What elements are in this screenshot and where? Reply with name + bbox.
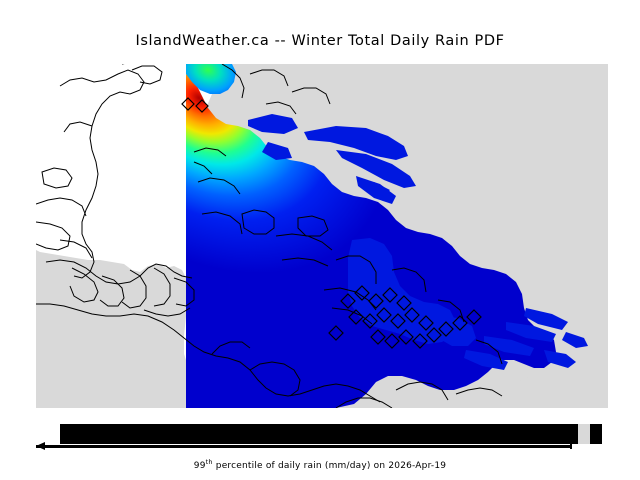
colorbar-end-tick (570, 444, 572, 449)
left-arrow-icon (36, 442, 45, 450)
caption-ordinal-suffix: th (206, 458, 213, 466)
weather-map-figure: IslandWeather.ca -- Winter Total Daily R… (0, 0, 640, 480)
caption-rest: percentile of daily rain (mm/day) on 202… (213, 461, 447, 471)
map-svg[interactable] (36, 64, 608, 408)
colorbar-over-swatch (578, 424, 590, 444)
colorbar-gradient (60, 424, 602, 444)
figure-caption: 99th percentile of daily rain (mm/day) o… (0, 458, 640, 471)
colorbar-axis-rule (36, 445, 572, 448)
caption-prefix: 99 (194, 461, 206, 471)
page-title: IslandWeather.ca -- Winter Total Daily R… (0, 33, 640, 49)
map-panel[interactable] (36, 64, 608, 408)
colorbar[interactable] (36, 424, 608, 450)
